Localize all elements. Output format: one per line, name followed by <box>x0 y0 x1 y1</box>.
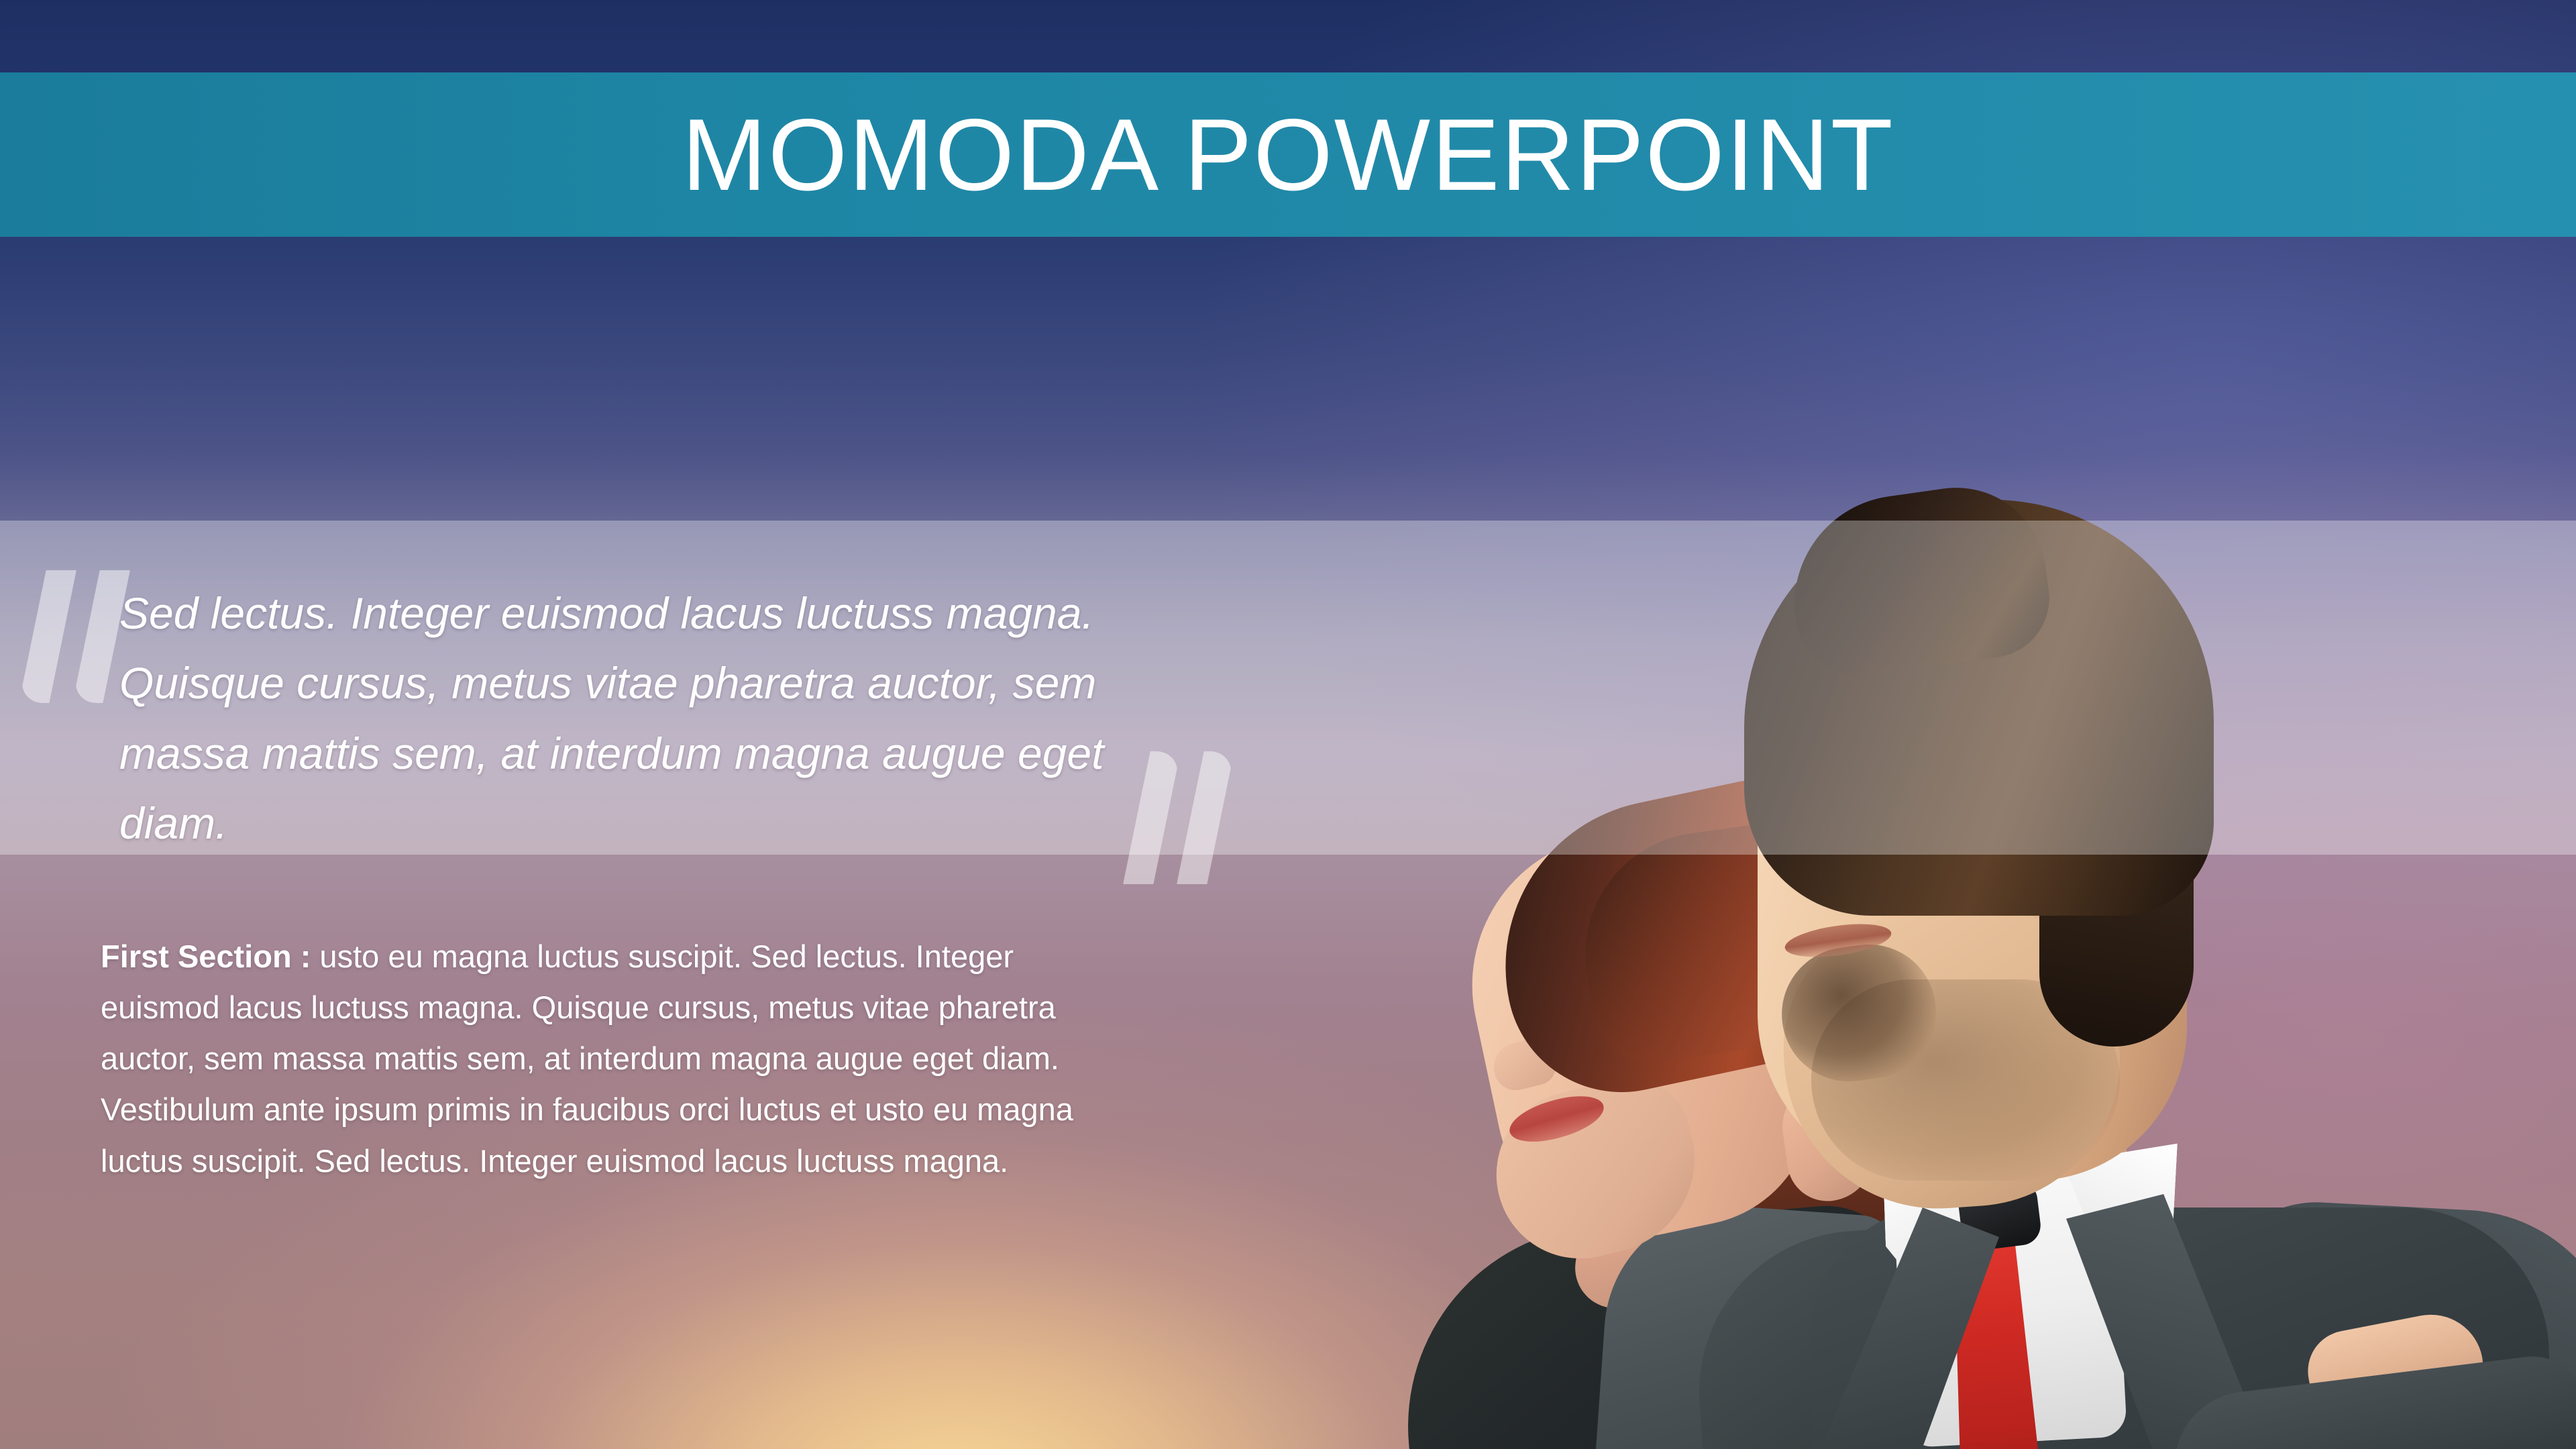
body-paragraph-text: usto eu magna luctus suscipit. Sed lectu… <box>101 938 1073 1179</box>
closing-quote-icon <box>1132 751 1225 884</box>
presentation-slide: MOMODA POWERPOINT Sed lectus. Integer eu… <box>0 0 2576 1449</box>
slide-title-bar: MOMODA POWERPOINT <box>0 72 2576 237</box>
slide-title: MOMODA POWERPOINT <box>682 104 1894 206</box>
quote-text: Sed lectus. Integer euismod lacus luctus… <box>119 578 1112 858</box>
opening-quote-icon <box>28 570 121 703</box>
body-paragraph: First Section : usto eu magna luctus sus… <box>101 931 1093 1187</box>
body-lead-label: First Section : <box>101 938 311 974</box>
